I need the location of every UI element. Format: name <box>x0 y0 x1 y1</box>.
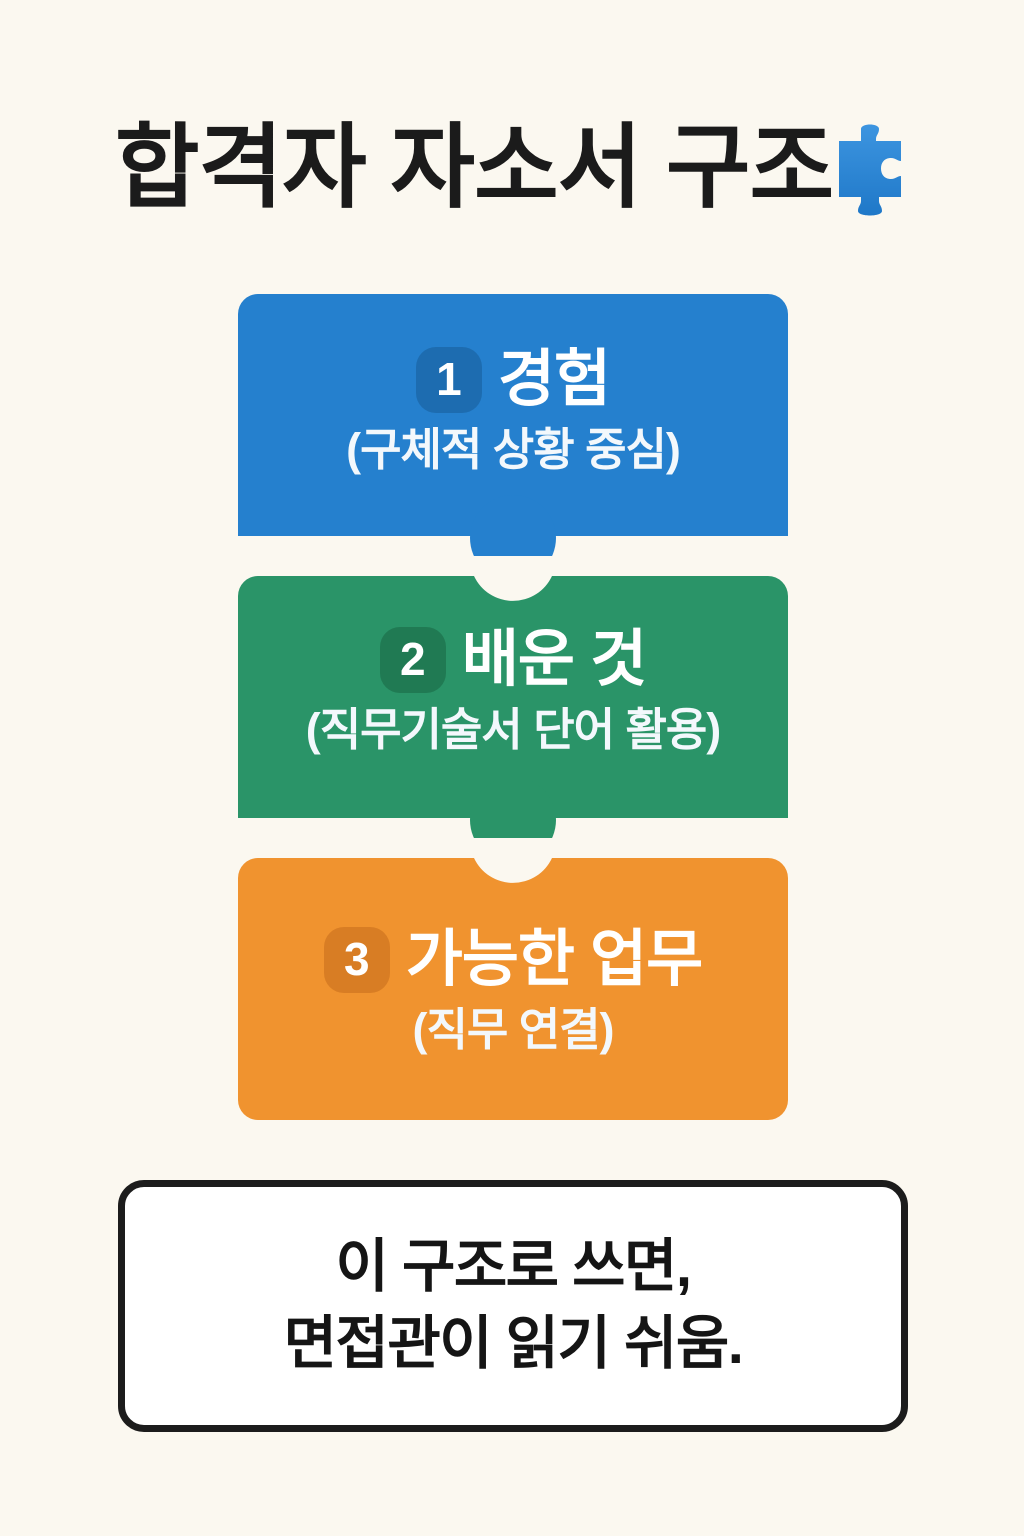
callout-line-2: 면접관이 읽기 쉬움. <box>284 1309 743 1380</box>
card-heading-1: 1 경험 <box>256 346 770 414</box>
header: 합격자 자소서 구조 <box>0 108 1024 228</box>
step-card-learned[interactable]: 2 배운 것 (직무기술서 단어 활용) <box>238 576 788 838</box>
step-title-1: 경험 <box>498 346 610 414</box>
card-content-2: 2 배운 것 (직무기술서 단어 활용) <box>238 626 788 756</box>
step-title-3: 가능한 업무 <box>406 926 702 994</box>
page-title: 합격자 자소서 구조 <box>115 120 833 217</box>
card-content-1: 1 경험 (구체적 상황 중심) <box>238 346 788 476</box>
card-heading-3: 3 가능한 업무 <box>256 926 770 994</box>
puzzle-step-stack: 1 경험 (구체적 상황 중심) 2 배운 것 (직무기술서 단어 활용) 3 <box>238 294 788 1120</box>
step-number-badge-1: 1 <box>416 347 482 413</box>
card-content-3: 3 가능한 업무 (직무 연결) <box>238 926 788 1056</box>
step-title-2: 배운 것 <box>462 626 646 694</box>
step-number-badge-2: 2 <box>380 627 446 693</box>
card-heading-2: 2 배운 것 <box>256 626 770 694</box>
step-card-tasks[interactable]: 3 가능한 업무 (직무 연결) <box>238 858 788 1120</box>
step-subtitle-2: (직무기술서 단어 활용) <box>256 704 770 756</box>
conclusion-callout: 이 구조로 쓰면, 면접관이 읽기 쉬움. <box>118 1180 908 1432</box>
step-card-experience[interactable]: 1 경험 (구체적 상황 중심) <box>238 294 788 556</box>
step-subtitle-3: (직무 연결) <box>256 1004 770 1056</box>
callout-line-1: 이 구조로 쓰면, <box>335 1232 690 1303</box>
step-subtitle-1: (구체적 상황 중심) <box>256 424 770 476</box>
step-number-badge-3: 3 <box>324 927 390 993</box>
puzzle-piece-icon <box>831 123 909 219</box>
